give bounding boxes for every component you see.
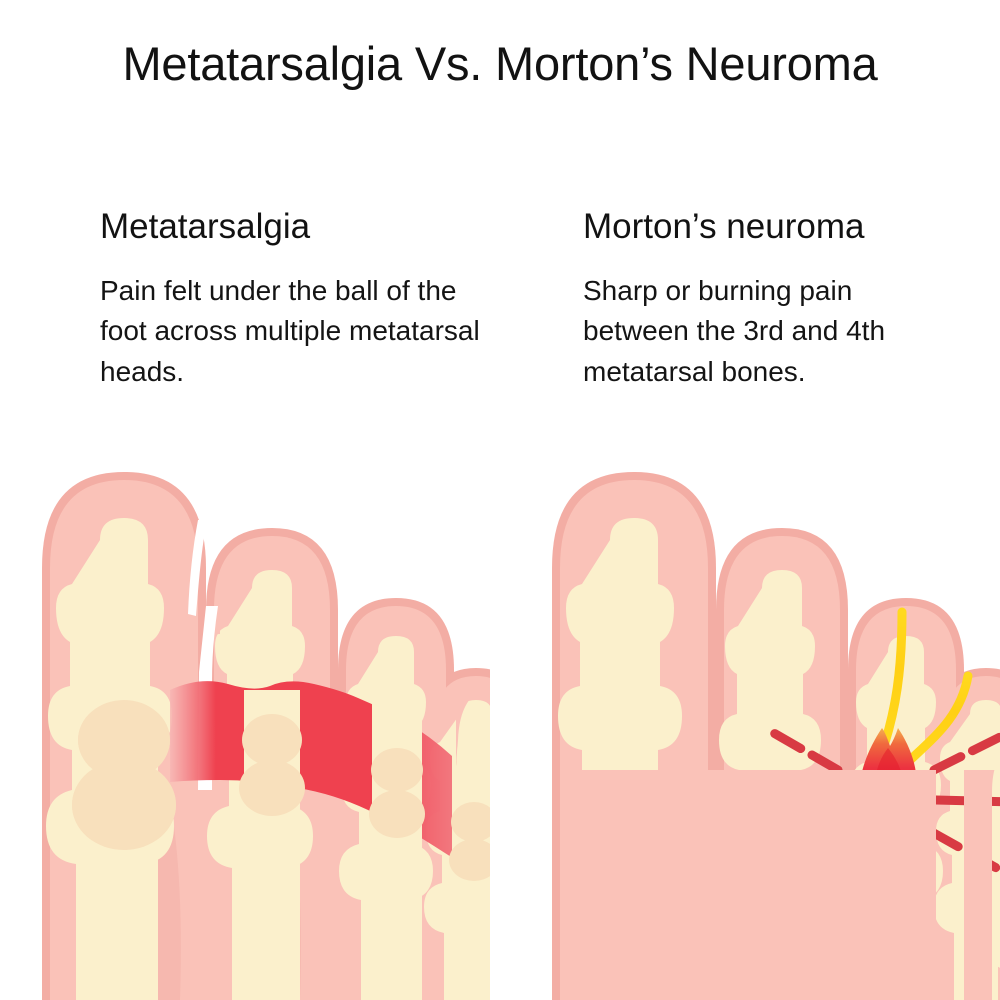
description-metatarsalgia: Pain felt under the ball of the foot acr… [100,271,488,393]
heading-mortons-neuroma: Morton’s neuroma [583,208,983,247]
page-title: Metatarsalgia Vs. Morton’s Neuroma [0,36,1000,91]
right-foot-mortons-neuroma-diagram [530,440,1000,1000]
description-mortons-neuroma: Sharp or burning pain between the 3rd an… [583,271,955,393]
illustration-page: Metatarsalgia Vs. Morton’s Neuroma Metat… [0,0,1000,1000]
column-mortons-neuroma: Morton’s neuroma Sharp or burning pain b… [583,208,983,392]
heading-metatarsalgia: Metatarsalgia [100,208,500,247]
left-foot-metatarsalgia-diagram [20,440,490,1000]
column-metatarsalgia: Metatarsalgia Pain felt under the ball o… [100,208,500,392]
